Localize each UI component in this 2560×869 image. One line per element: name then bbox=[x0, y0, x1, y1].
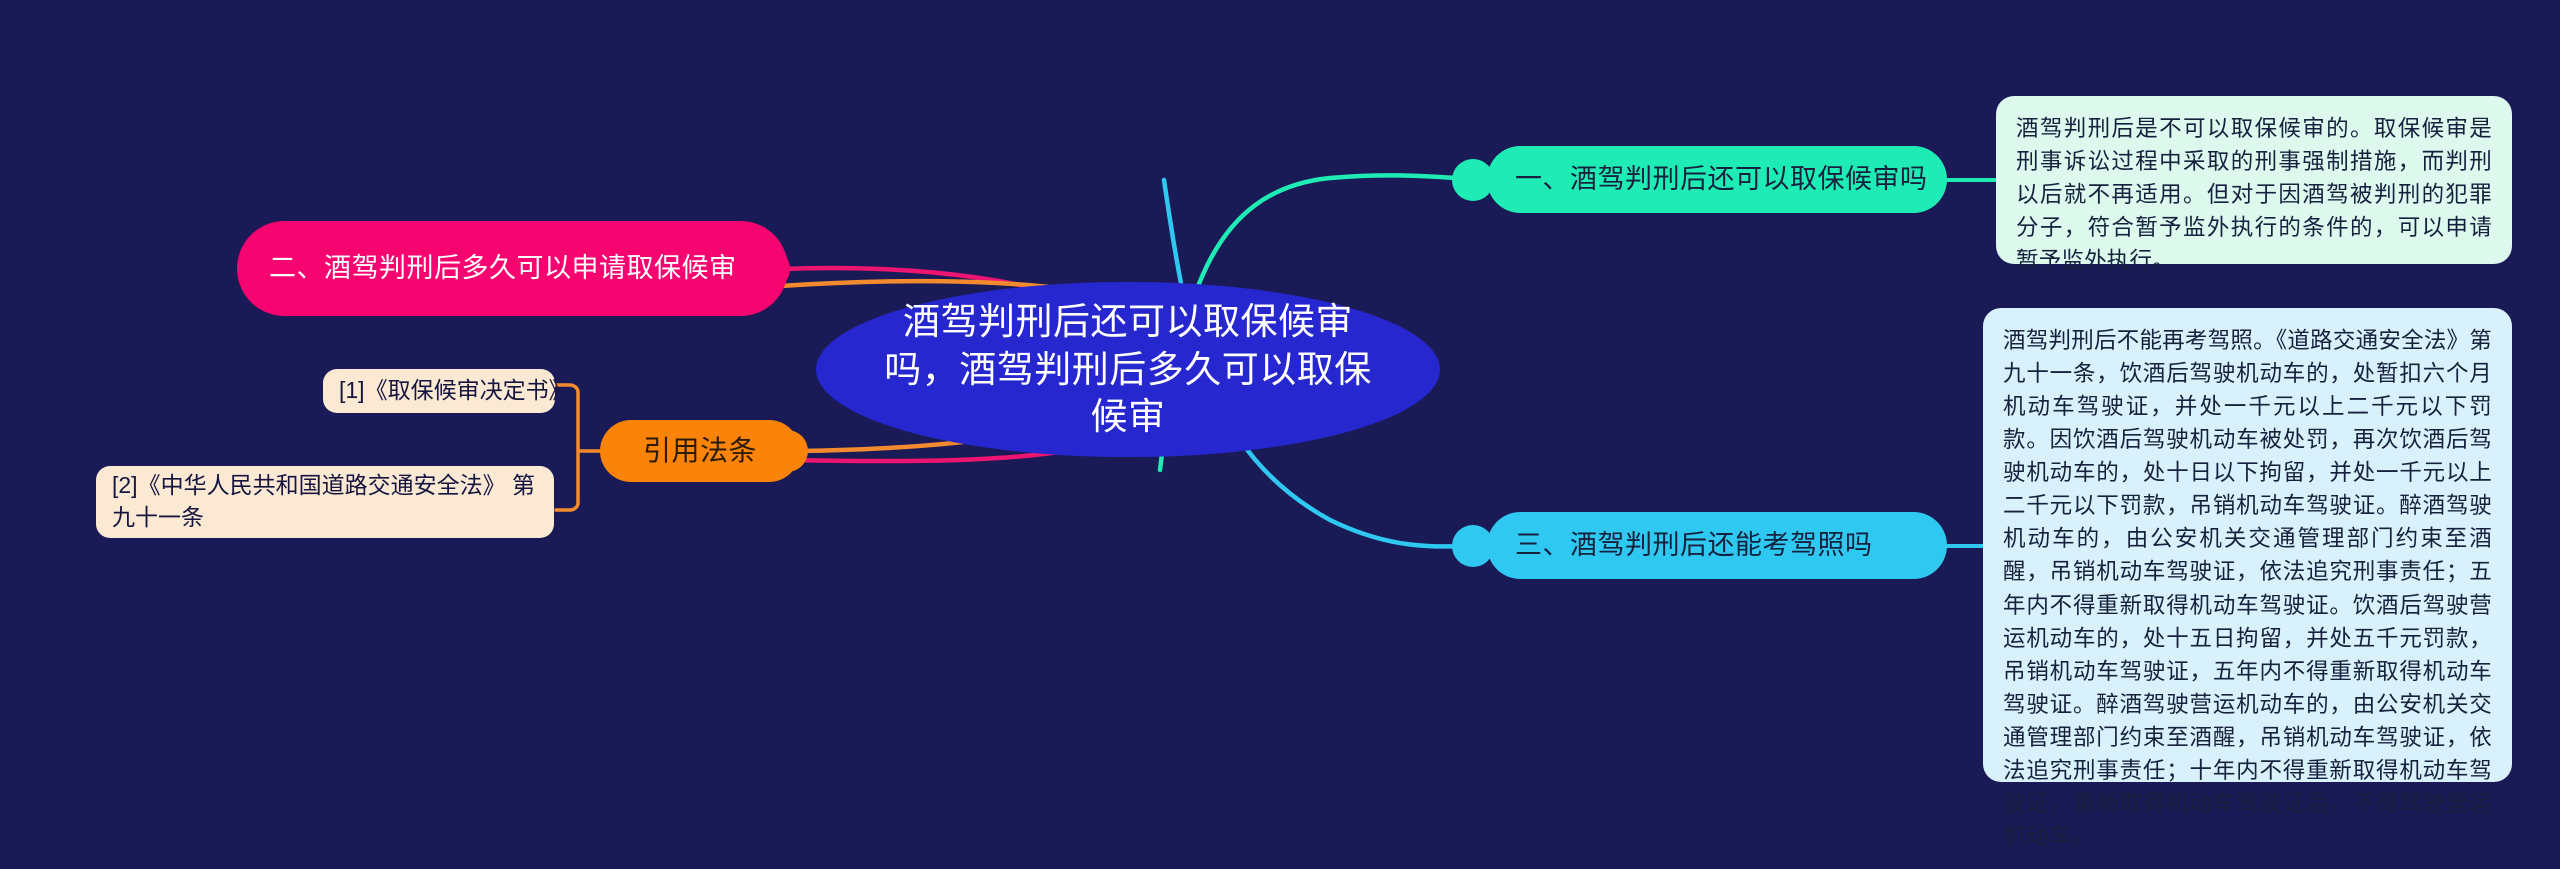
citation-item-1-label: [1]《取保候审决定书》 bbox=[339, 375, 572, 407]
detail-box-3[interactable]: 酒驾判刑后不能再考驾照。《道路交通安全法》第九十一条，饮酒后驾驶机动车的，处暂扣… bbox=[1983, 308, 2512, 782]
branch-node-1-label: 一、酒驾判刑后还可以取保候审吗 bbox=[1515, 160, 1928, 198]
branch-node-3[interactable]: 三、酒驾判刑后还能考驾照吗 bbox=[1487, 512, 1947, 579]
branch-node-2[interactable]: 二、酒驾判刑后多久可以申请取保候审 bbox=[237, 221, 788, 316]
detail-box-1[interactable]: 酒驾判刑后是不可以取保候审的。取保候审是刑事诉讼过程中采取的刑事强制措施，而判刑… bbox=[1996, 96, 2512, 264]
detail-box-3-text: 酒驾判刑后不能再考驾照。《道路交通安全法》第九十一条，饮酒后驾驶机动车的，处暂扣… bbox=[2003, 324, 2492, 853]
citation-item-2-label: [2]《中华人民共和国道路交通安全法》 第九十一条 bbox=[112, 470, 538, 533]
branch-node-1[interactable]: 一、酒驾判刑后还可以取保候审吗 bbox=[1487, 146, 1947, 213]
branch-node-3-label: 三、酒驾判刑后还能考驾照吗 bbox=[1515, 526, 1873, 564]
cited-laws-node[interactable]: 引用法条 bbox=[600, 420, 800, 482]
cited-laws-node-label: 引用法条 bbox=[643, 431, 757, 471]
mindmap-canvas: 酒驾判刑后还可以取保候审吗，酒驾判刑后多久可以取保候审 一、酒驾判刑后还可以取保… bbox=[0, 0, 2560, 869]
citation-item-2[interactable]: [2]《中华人民共和国道路交通安全法》 第九十一条 bbox=[96, 466, 554, 538]
detail-box-1-text: 酒驾判刑后是不可以取保候审的。取保候审是刑事诉讼过程中采取的刑事强制措施，而判刑… bbox=[2016, 112, 2492, 277]
central-topic-label: 酒驾判刑后还可以取保候审吗，酒驾判刑后多久可以取保候审 bbox=[878, 298, 1378, 440]
branch-node-2-label: 二、酒驾判刑后多久可以申请取保候审 bbox=[269, 249, 737, 287]
citation-item-1[interactable]: [1]《取保候审决定书》 bbox=[323, 369, 555, 413]
central-topic[interactable]: 酒驾判刑后还可以取保候审吗，酒驾判刑后多久可以取保候审 bbox=[816, 282, 1440, 457]
